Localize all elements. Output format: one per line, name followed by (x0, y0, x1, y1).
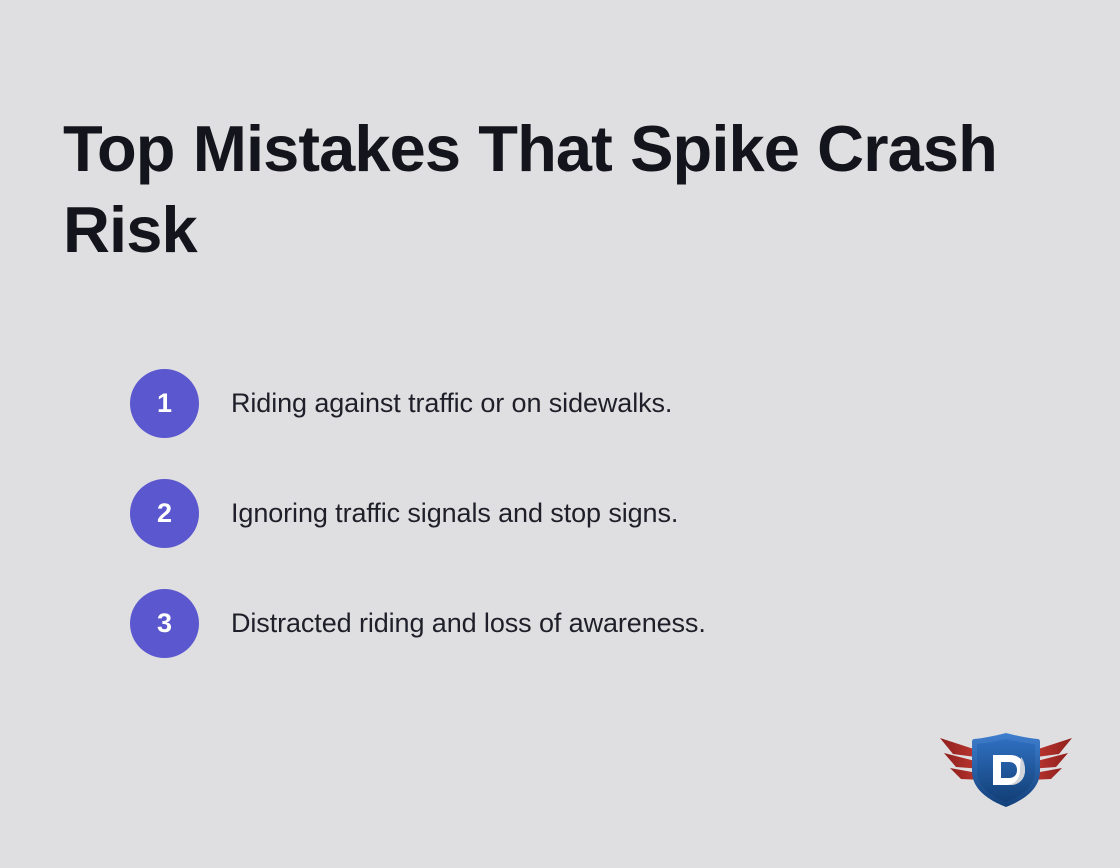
list-item-number-badge: 3 (130, 589, 199, 658)
list-item-label: Riding against traffic or on sidewalks. (231, 386, 672, 420)
brand-logo (936, 727, 1076, 813)
list-item-label: Ignoring traffic signals and stop signs. (231, 496, 678, 530)
list-item: 2 Ignoring traffic signals and stop sign… (130, 478, 990, 548)
slide-canvas: Top Mistakes That Spike Crash Risk 1 Rid… (0, 0, 1120, 868)
list-item-label: Distracted riding and loss of awareness. (231, 606, 706, 640)
title-block: Top Mistakes That Spike Crash Risk (63, 108, 1048, 270)
page-title: Top Mistakes That Spike Crash Risk (63, 108, 1048, 270)
list-item: 1 Riding against traffic or on sidewalks… (130, 368, 990, 438)
list-item-number-badge: 1 (130, 369, 199, 438)
winged-shield-logo-icon (936, 727, 1076, 813)
list-item: 3 Distracted riding and loss of awarenes… (130, 588, 990, 658)
list-item-number-badge: 2 (130, 479, 199, 548)
mistake-list: 1 Riding against traffic or on sidewalks… (130, 368, 990, 658)
